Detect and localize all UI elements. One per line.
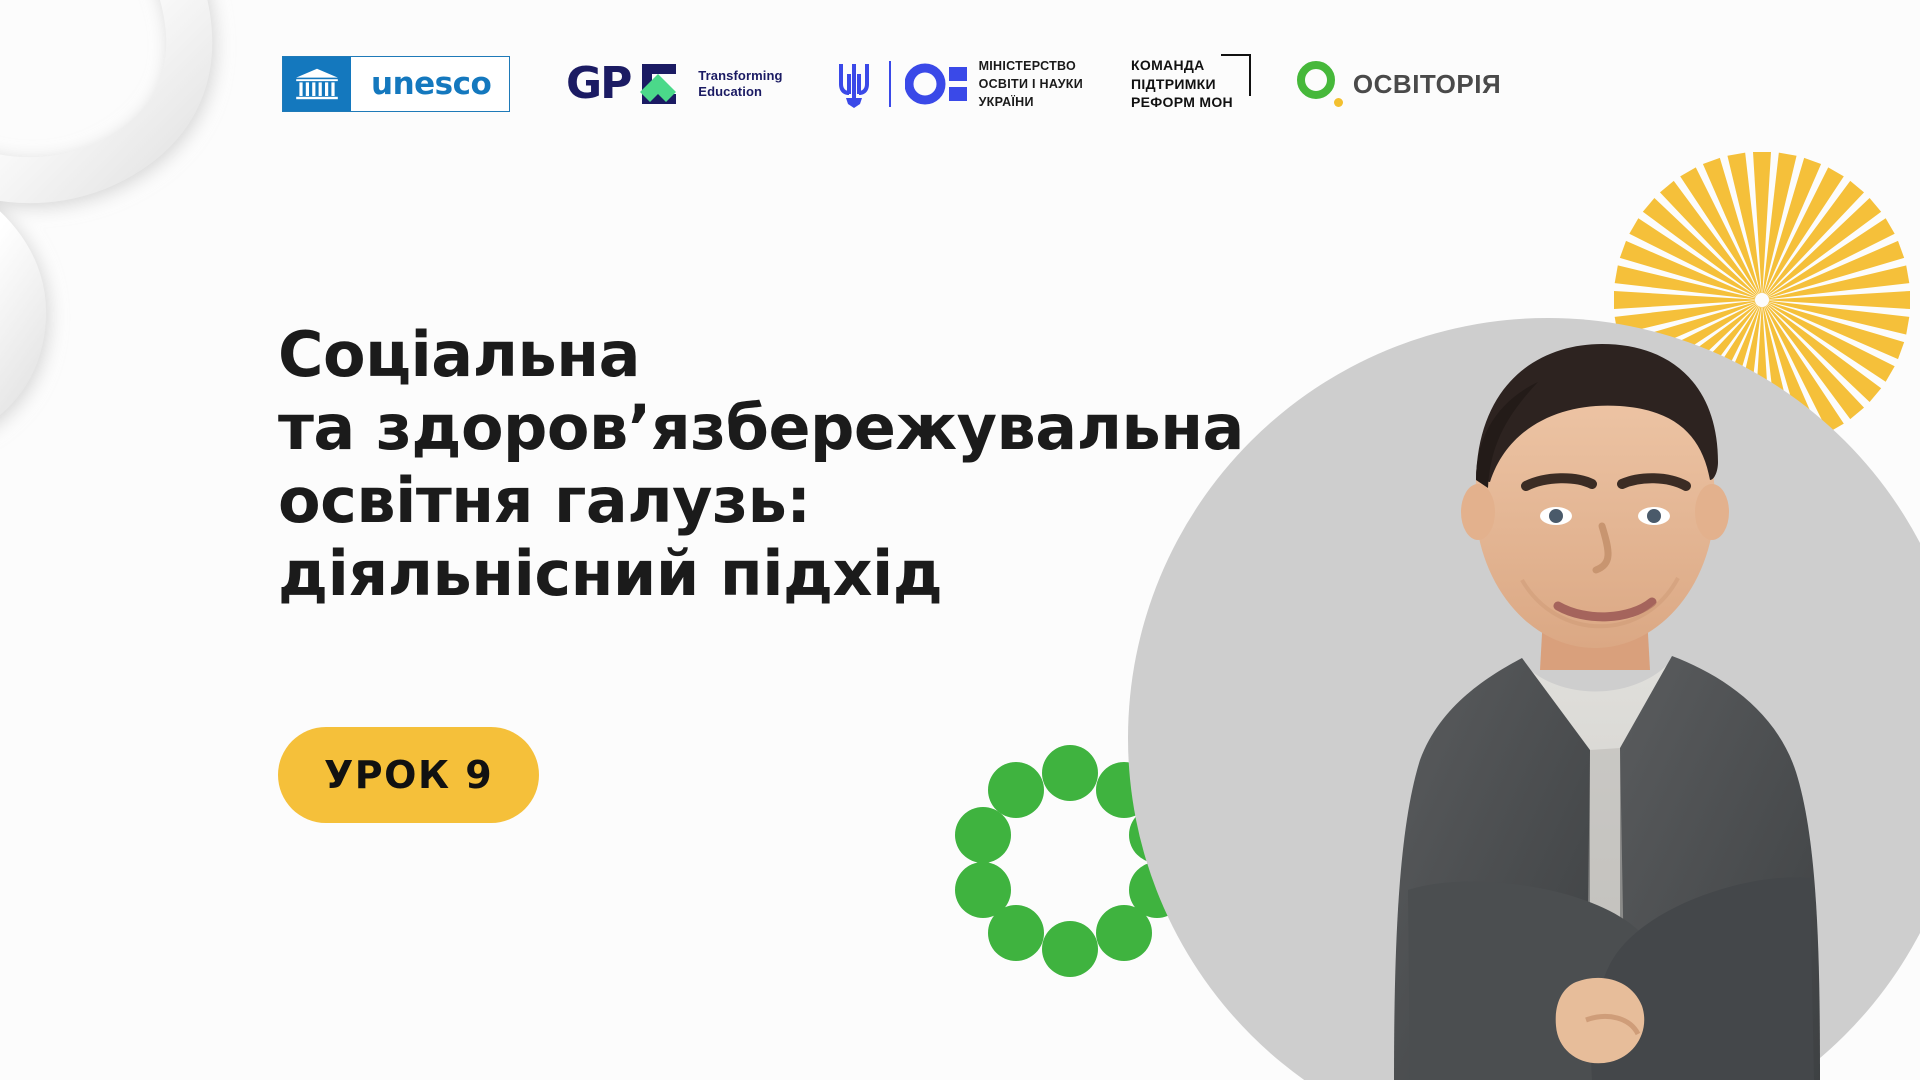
speaker-portrait: [1290, 330, 1910, 1080]
osvitoria-logo: ОСВІТОРІЯ: [1297, 61, 1501, 107]
osvitoria-dot-icon: [1334, 98, 1343, 107]
ministry-line2: ОСВІТИ І НАУКИ: [979, 75, 1083, 93]
unesco-wordmark: unesco: [351, 57, 509, 111]
osvitoria-wordmark: ОСВІТОРІЯ: [1353, 69, 1501, 100]
ministry-line1: МІНІСТЕРСТВО: [979, 57, 1083, 75]
ministry-of-education-logo: МІНІСТЕРСТВО ОСВІТИ І НАУКИ УКРАЇНИ: [833, 57, 1083, 111]
gpe-logo: GP Transforming Education: [566, 58, 782, 110]
ministry-line3: УКРАЇНИ: [979, 93, 1083, 111]
reform-team-line1: КОМАНДА: [1131, 56, 1233, 75]
gpe-tagline: Transforming Education: [698, 68, 782, 101]
osvitoria-ring-icon: [1297, 61, 1343, 107]
lesson-number-badge: УРОК 9: [278, 727, 539, 823]
partner-logo-bar: unesco GP Transforming Education: [0, 44, 1920, 124]
reform-team-line2: ПІДТРИМКИ: [1131, 75, 1233, 94]
reform-team-line3: РЕФОРМ МОН: [1131, 93, 1233, 112]
mon-emblem-icon: [905, 61, 967, 107]
ministry-name: МІНІСТЕРСТВО ОСВІТИ І НАУКИ УКРАЇНИ: [979, 57, 1083, 111]
svg-text:GP: GP: [566, 58, 631, 109]
slide-canvas: unesco GP Transforming Education: [0, 0, 1920, 1080]
logo-divider: [889, 61, 891, 107]
reform-team-name: КОМАНДА ПІДТРИМКИ РЕФОРМ МОН: [1131, 56, 1233, 113]
ukraine-trident-icon: [833, 58, 875, 110]
unesco-logo: unesco: [282, 56, 510, 112]
gpe-tagline-line1: Transforming: [698, 68, 782, 84]
unesco-temple-icon: [283, 57, 351, 111]
reform-team-bracket-icon: [1221, 54, 1251, 96]
page-title: Соціальна та здоров’язбережувальна освіт…: [278, 318, 1288, 611]
gpe-tagline-line2: Education: [698, 84, 782, 100]
mon-reform-support-team-logo: КОМАНДА ПІДТРИМКИ РЕФОРМ МОН: [1131, 56, 1233, 113]
gpe-mark-icon: GP: [566, 58, 686, 110]
